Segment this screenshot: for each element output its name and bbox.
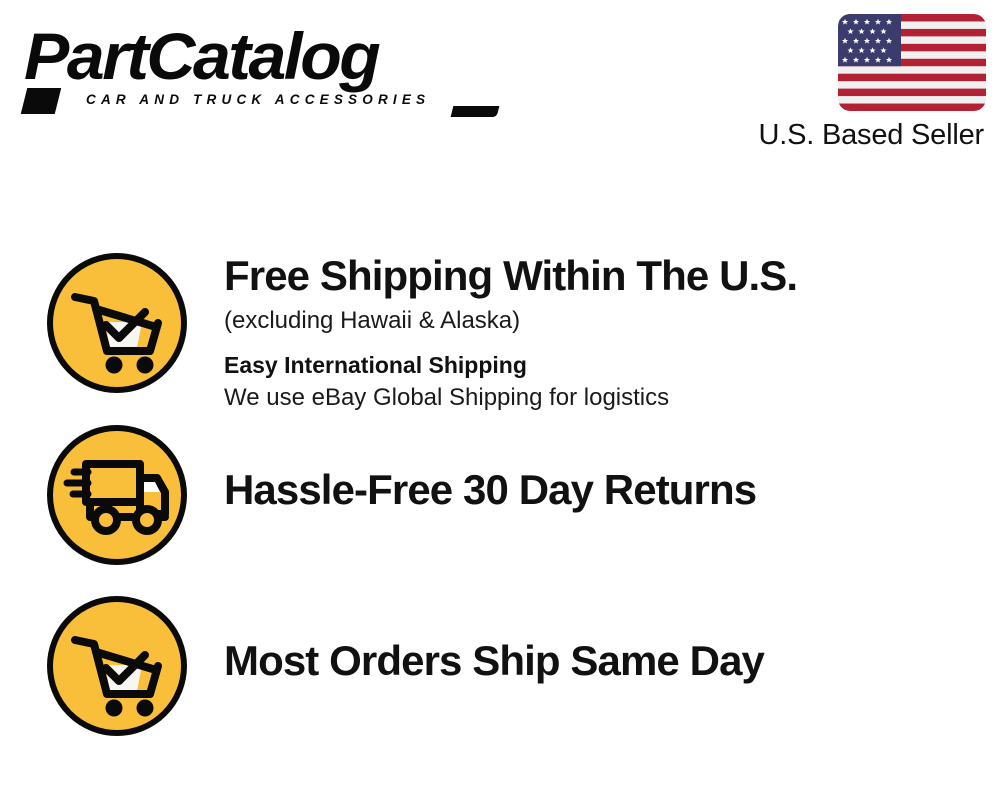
shopping-cart-check-icon	[44, 250, 190, 396]
us-based-seller-label: U.S. Based Seller	[759, 119, 985, 152]
feature-title: Free Shipping Within The U.S.	[224, 252, 797, 300]
brand-wordmark: PartCatalog	[24, 22, 508, 90]
feature-title: Most Orders Ship Same Day	[224, 637, 764, 685]
feature-text-block: Hassle-Free 30 Day Returns	[224, 422, 756, 514]
delivery-truck-icon	[44, 422, 190, 568]
shopping-cart-check-icon	[44, 593, 190, 739]
feature-text-block: Most Orders Ship Same Day	[224, 593, 764, 685]
feature-subtitle-bold: Easy International Shipping	[224, 350, 797, 380]
list-item: Hassle-Free 30 Day Returns	[44, 422, 984, 568]
brand-tagline: CAR AND TRUCK ACCESSORIES	[86, 92, 494, 107]
feature-subtitle-last: We use eBay Global Shipping for logistic…	[224, 383, 797, 413]
feature-text-block: Free Shipping Within The U.S. (excluding…	[224, 250, 797, 413]
feature-title: Hassle-Free 30 Day Returns	[224, 466, 756, 514]
page-header: PartCatalog CAR AND TRUCK ACCESSORIES	[0, 0, 1000, 170]
brand-logo[interactable]: PartCatalog CAR AND TRUCK ACCESSORIES	[24, 22, 494, 107]
us-flag-icon	[838, 14, 986, 111]
logo-swoosh-right-icon	[451, 106, 500, 117]
list-item: Most Orders Ship Same Day	[44, 593, 984, 739]
feature-subtitle: (excluding Hawaii & Alaska)	[224, 306, 797, 336]
list-item: Free Shipping Within The U.S. (excluding…	[44, 250, 984, 413]
